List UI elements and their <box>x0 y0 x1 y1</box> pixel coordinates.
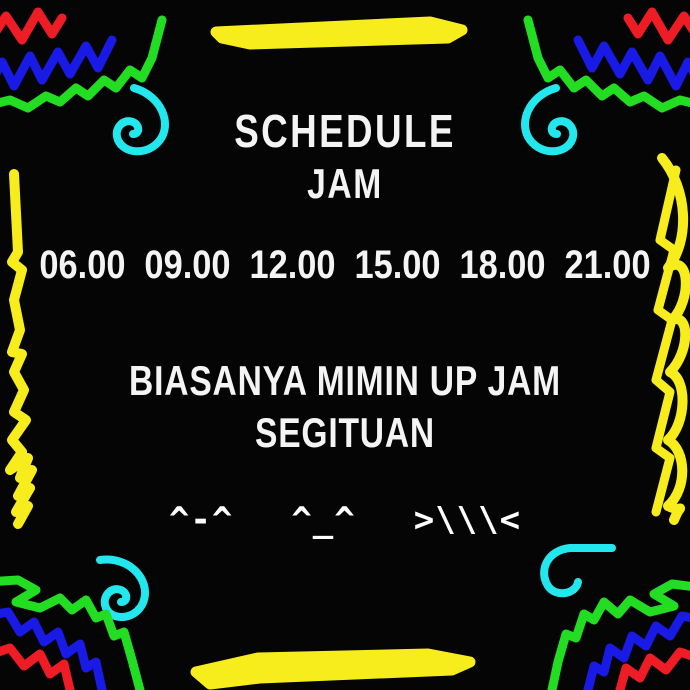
poster-content: SCHEDULE JAM 06.00 09.00 12.00 15.00 18.… <box>0 0 690 690</box>
emoticon-0: ^-^ <box>169 503 233 537</box>
page-title-schedule: SCHEDULE <box>69 108 621 154</box>
emoticons-row: ^-^ ^_^ >\\\< <box>0 503 690 537</box>
caption-line-2: SEGITUAN <box>69 412 621 454</box>
schedule-poster: SCHEDULE JAM 06.00 09.00 12.00 15.00 18.… <box>0 0 690 690</box>
schedule-time-0: 06.00 <box>39 245 125 285</box>
schedule-time-2: 12.00 <box>249 245 335 285</box>
schedule-times-row: 06.00 09.00 12.00 15.00 18.00 21.00 <box>48 245 641 285</box>
page-title-jam: JAM <box>69 163 621 205</box>
caption-line-1: BIASANYA MIMIN UP JAM <box>69 360 621 402</box>
schedule-time-3: 15.00 <box>354 245 440 285</box>
emoticon-1: ^_^ <box>291 503 355 537</box>
schedule-time-1: 09.00 <box>144 245 230 285</box>
schedule-time-5: 21.00 <box>564 245 650 285</box>
schedule-time-4: 18.00 <box>459 245 545 285</box>
emoticon-2: >\\\< <box>414 503 521 537</box>
